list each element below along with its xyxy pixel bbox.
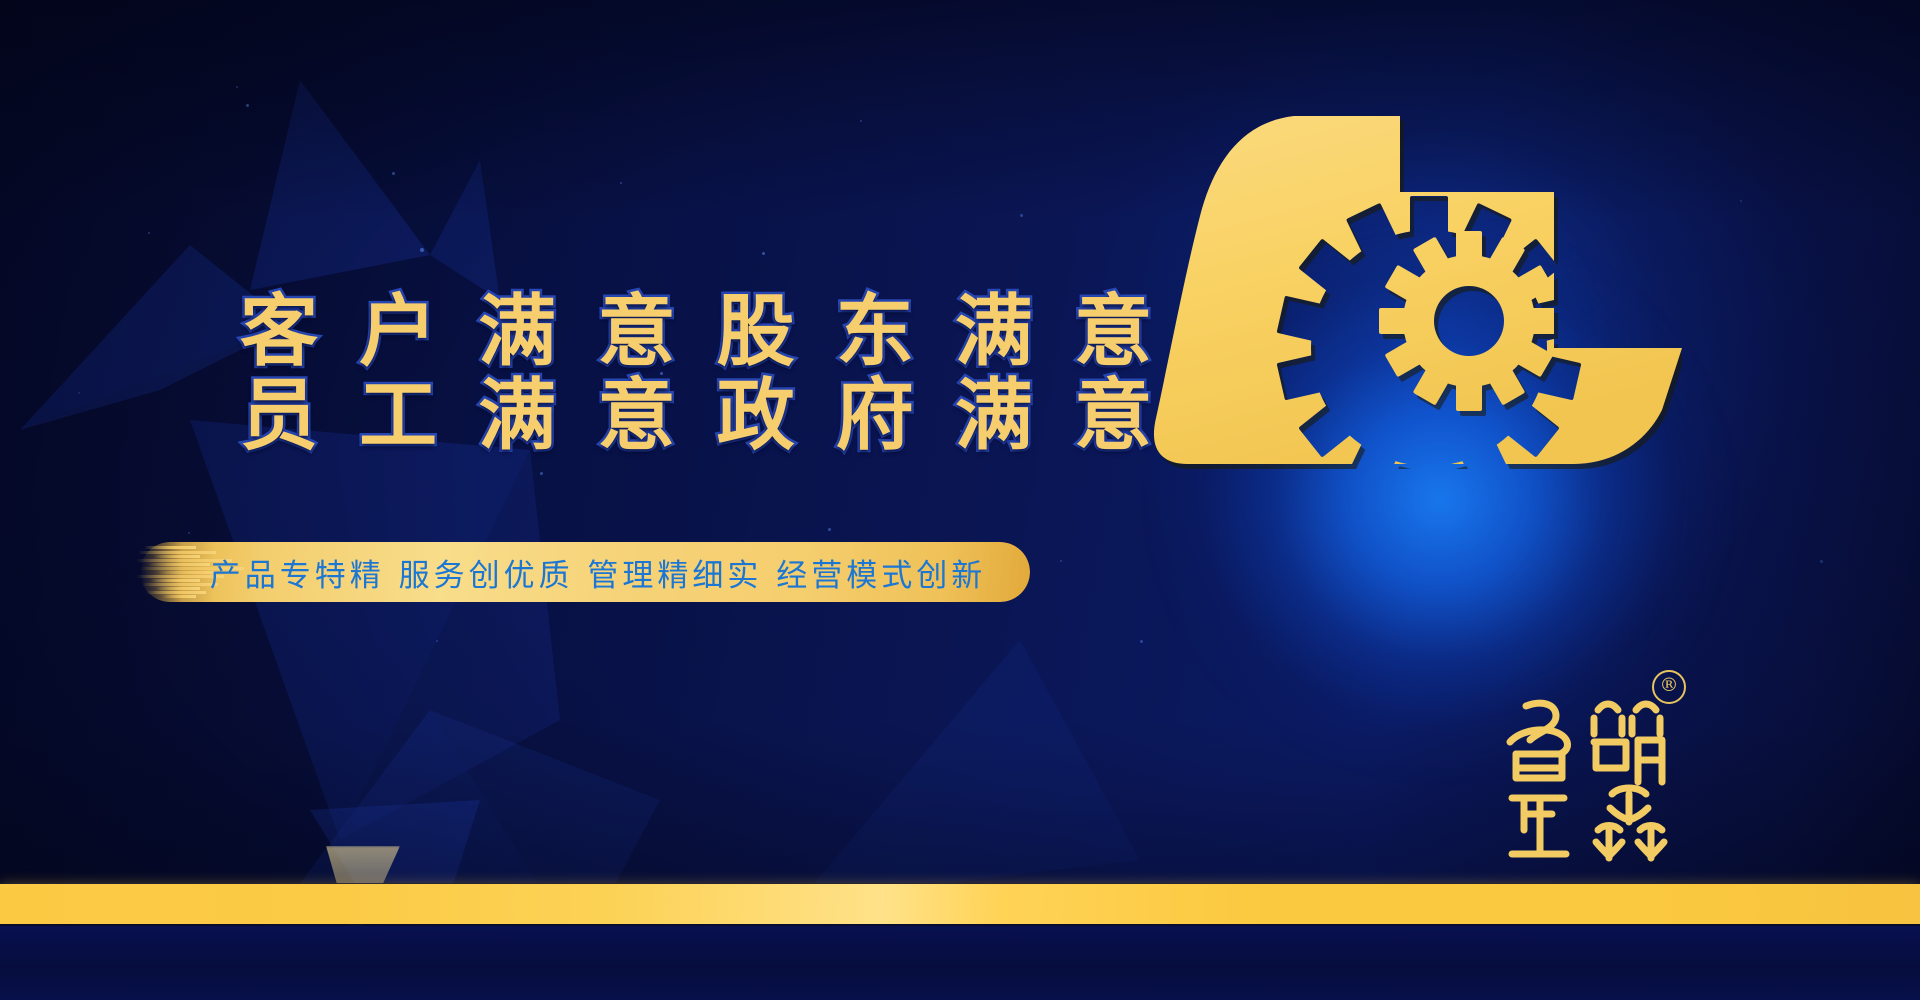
bottom-navy-strip: [0, 926, 1920, 1000]
wordmark-char-tai: [1510, 703, 1568, 778]
brand-wordmark: ®: [1490, 690, 1680, 870]
wordmark-char-zheng: [1512, 798, 1566, 854]
headline-line-2: 员 工 满 意 政 府 满 意: [240, 374, 1000, 458]
bottom-gold-bar: [0, 884, 1920, 924]
wordmark-char-zhu: [1594, 704, 1662, 782]
gear-swoosh-logo: [1122, 96, 1682, 496]
registered-trademark-icon: ®: [1652, 670, 1686, 704]
wordmark-char-sen: [1596, 788, 1664, 858]
banner-canvas: 客 户 满 意 股 东 满 意 员 工 满 意 政 府 满 意 产品专特精 服务…: [0, 0, 1920, 1000]
subtitle-text: 产品专特精 服务创优质 管理精细实 经营模式创新: [140, 542, 1030, 602]
headline-line-1: 客 户 满 意 股 东 满 意: [240, 290, 1000, 374]
subtitle-pill: 产品专特精 服务创优质 管理精细实 经营模式创新: [140, 542, 1030, 602]
headline-block: 客 户 满 意 股 东 满 意 员 工 满 意 政 府 满 意: [240, 290, 1000, 458]
